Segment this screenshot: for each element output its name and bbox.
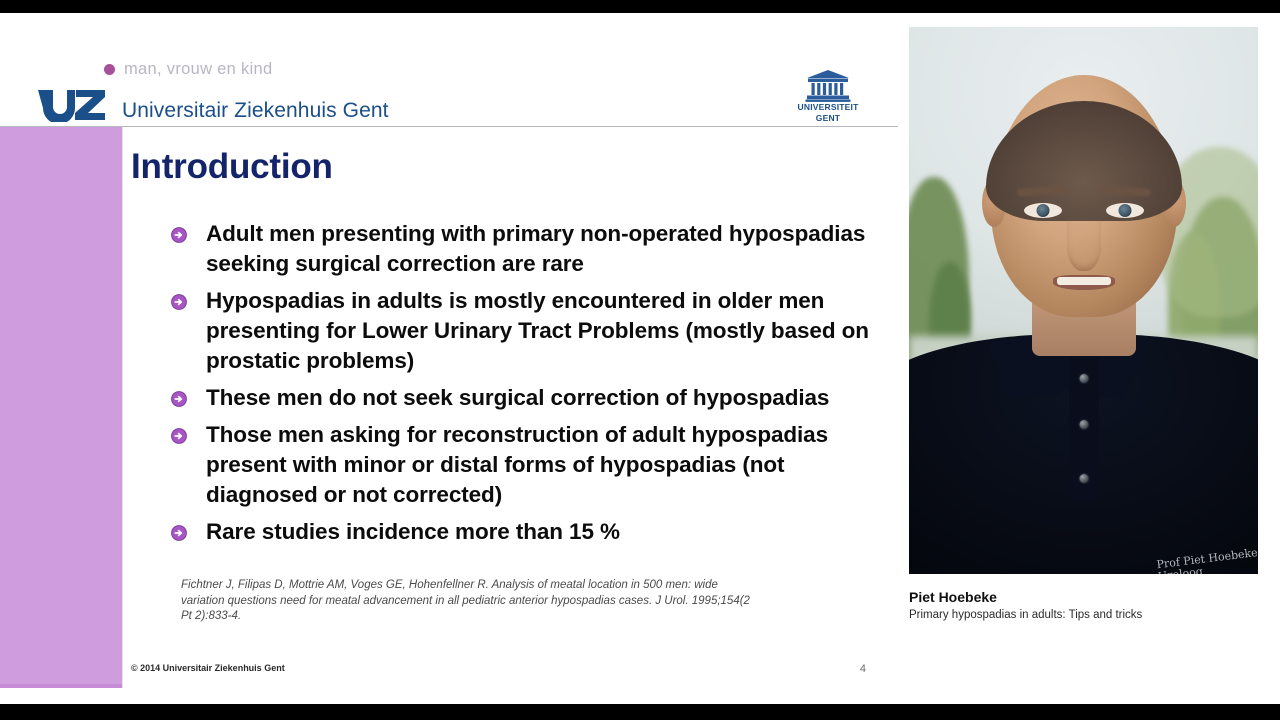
bullet-text: Hypospadias in adults is mostly encounte…	[206, 286, 887, 376]
university-logo-line1: UNIVERSITEIT	[792, 103, 864, 113]
slide-header: man, vrouw en kind Universitair Ziekenhu…	[0, 13, 898, 127]
organization-name: Universitair Ziekenhuis Gent	[122, 99, 389, 123]
speaker-head	[991, 75, 1177, 317]
letterbox-bottom	[0, 704, 1280, 720]
bullet-text: Adult men presenting with primary non-op…	[206, 219, 887, 279]
uz-gent-logo-icon	[35, 88, 107, 122]
bullet-text: Rare studies incidence more than 15 %	[206, 517, 887, 547]
speaker-name: Piet Hoebeke	[909, 589, 1269, 605]
tagline-text: man, vrouw en kind	[124, 60, 272, 79]
bullet-list: Adult men presenting with primary non-op…	[171, 219, 887, 554]
hospital-tagline: man, vrouw en kind	[104, 60, 272, 79]
bullet-text: Those men asking for reconstruction of a…	[206, 420, 887, 510]
talk-title: Primary hypospadias in adults: Tips and …	[909, 609, 1269, 621]
universiteit-gent-logo: UNIVERSITEIT GENT	[792, 69, 864, 127]
iris-right	[1118, 204, 1131, 217]
slide: man, vrouw en kind Universitair Ziekenhu…	[0, 13, 898, 688]
shirt-embroidery-text: Prof Piet Hoebeke Uroloog	[1155, 545, 1260, 576]
shirt-button	[1079, 374, 1088, 383]
list-item: These men do not seek surgical correctio…	[171, 383, 887, 413]
slide-page-number: 4	[860, 663, 866, 675]
teeth	[1057, 277, 1111, 285]
speaker-video-panel: Prof Piet Hoebeke Uroloog	[907, 13, 1280, 688]
shirt-button	[1079, 474, 1088, 483]
letterbox-top	[0, 0, 1280, 13]
slide-copyright: © 2014 Universitair Ziekenhuis Gent	[131, 663, 285, 673]
temple-icon	[805, 69, 851, 102]
slide-body: Introduction Adult men presenting with p…	[122, 127, 898, 688]
eye-left	[1024, 203, 1062, 218]
citation-reference: Fichtner J, Filipas D, Mottrie AM, Voges…	[181, 578, 761, 625]
speaker-video[interactable]: Prof Piet Hoebeke Uroloog	[907, 25, 1260, 576]
speaker-shirt: Prof Piet Hoebeke Uroloog	[907, 334, 1260, 576]
list-item: Adult men presenting with primary non-op…	[171, 219, 887, 279]
presentation-viewer: man, vrouw en kind Universitair Ziekenhu…	[0, 0, 1280, 720]
arrow-circle-bullet-icon	[171, 428, 187, 444]
shirt-button	[1079, 420, 1088, 429]
university-logo-line2: GENT	[792, 114, 864, 124]
shirt-placket	[1069, 352, 1099, 502]
arrow-circle-bullet-icon	[171, 391, 187, 407]
eye-right	[1106, 203, 1144, 218]
mouth	[1053, 275, 1115, 290]
list-item: Those men asking for reconstruction of a…	[171, 420, 887, 510]
slide-title: Introduction	[131, 147, 333, 187]
speaker-info: Piet Hoebeke Primary hypospadias in adul…	[909, 589, 1269, 621]
arrow-circle-bullet-icon	[171, 525, 187, 541]
nose	[1067, 215, 1101, 271]
speaker-hair	[986, 101, 1182, 221]
iris-left	[1036, 204, 1049, 217]
arrow-circle-bullet-icon	[171, 227, 187, 243]
tagline-dot-icon	[104, 64, 115, 75]
slide-accent-band	[0, 127, 122, 688]
list-item: Hypospadias in adults is mostly encounte…	[171, 286, 887, 376]
speaker-figure: Prof Piet Hoebeke Uroloog	[909, 27, 1258, 574]
arrow-circle-bullet-icon	[171, 294, 187, 310]
bullet-text: These men do not seek surgical correctio…	[206, 383, 887, 413]
list-item: Rare studies incidence more than 15 %	[171, 517, 887, 547]
